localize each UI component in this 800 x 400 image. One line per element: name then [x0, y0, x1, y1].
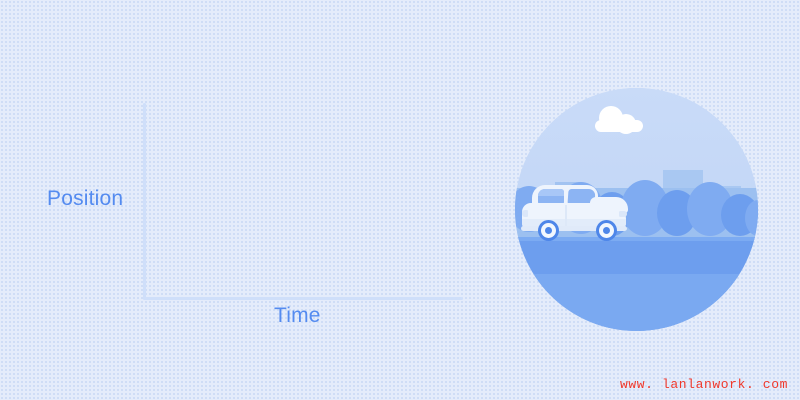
car-taillight [522, 210, 528, 217]
car-window-gloss [538, 189, 564, 196]
road-foreground-shade [515, 274, 758, 331]
y-axis-line [143, 103, 146, 300]
scene-circle-mask [515, 88, 758, 331]
cloud-base [595, 120, 643, 132]
car-scene-illustration [515, 88, 758, 331]
x-axis-label: Time [274, 305, 321, 326]
car-headlight [619, 211, 627, 217]
y-axis-label: Position [47, 188, 123, 209]
x-axis-line [143, 297, 463, 300]
car-rear-wheel-hub [545, 227, 552, 234]
site-watermark: www. lanlanwork. com [620, 377, 788, 392]
car-front-wheel-hub [603, 227, 610, 234]
car-illustration [520, 183, 632, 241]
illustration-canvas: Position Time [0, 0, 800, 400]
